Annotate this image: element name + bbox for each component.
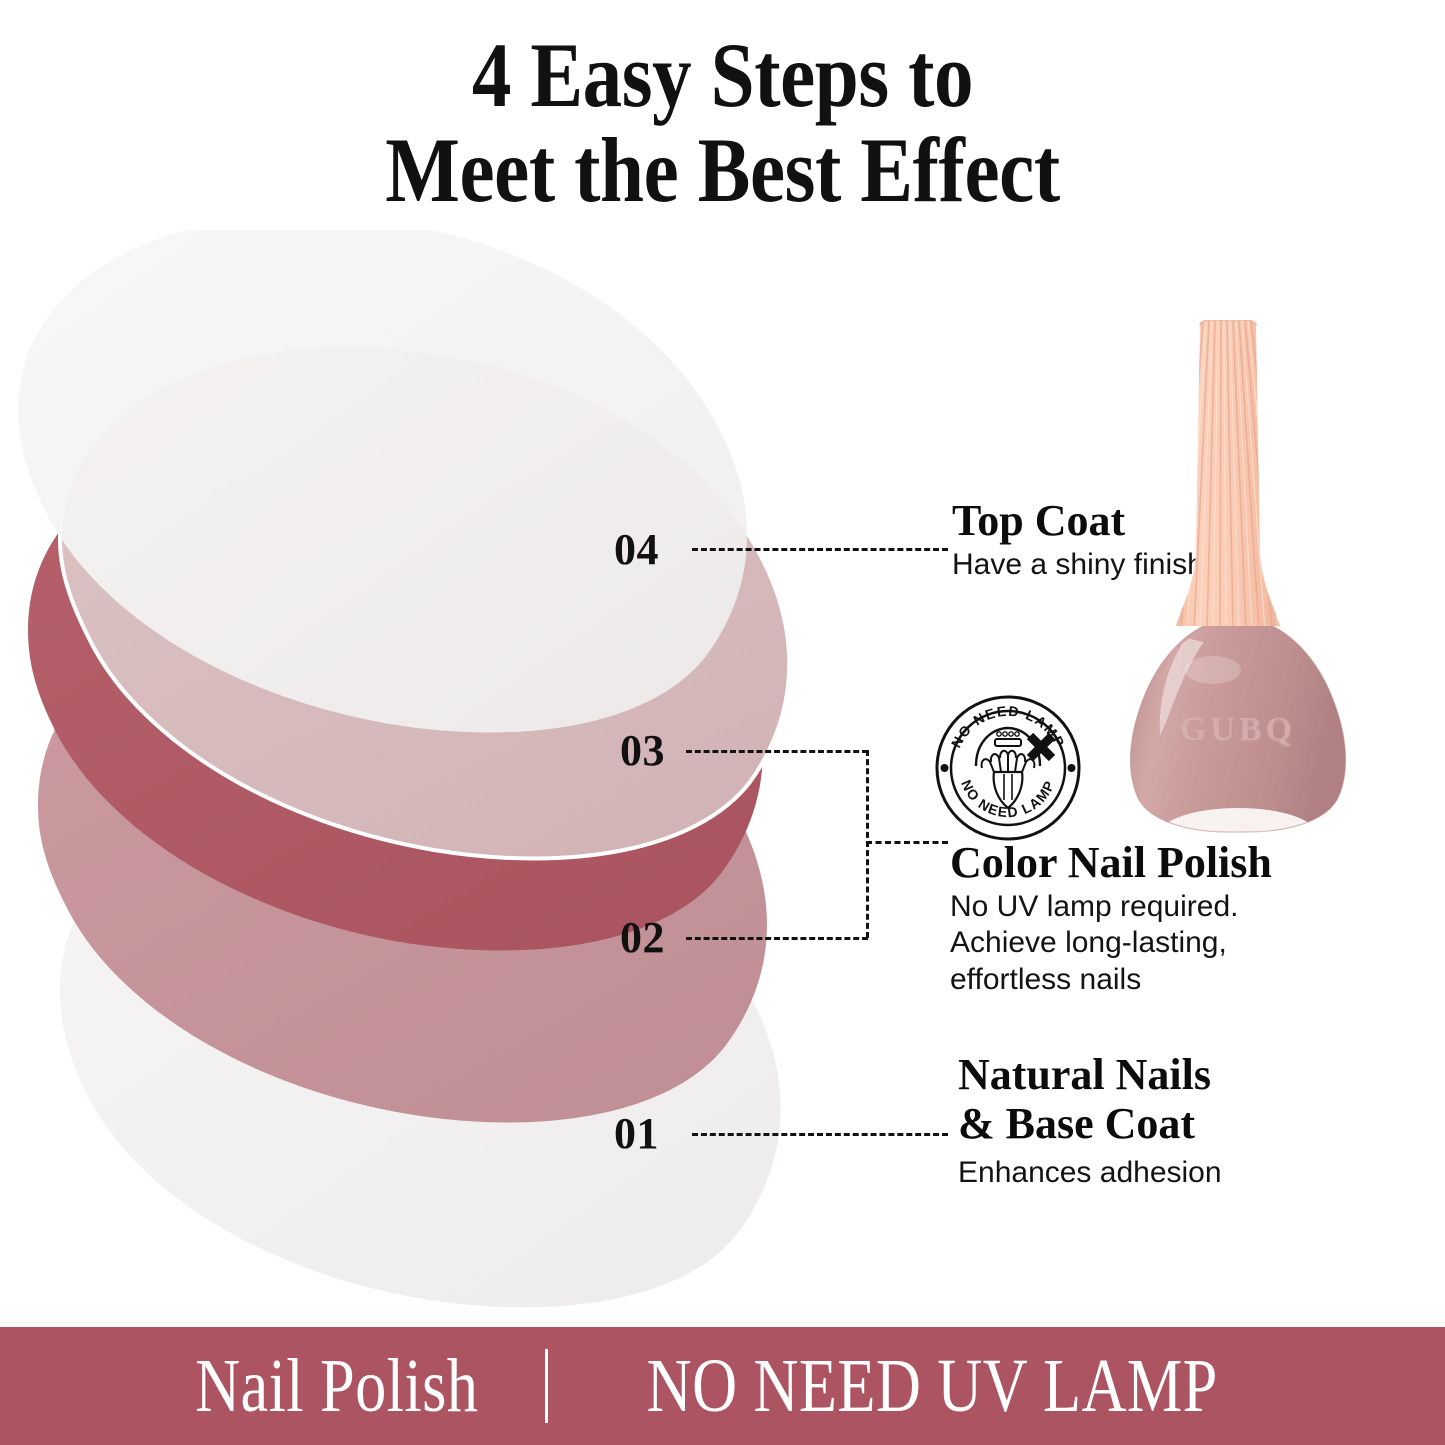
- infographic-page: 4 Easy Steps to Meet the Best Effect: [0, 0, 1445, 1445]
- bottom-banner: Nail Polish NO NEED UV LAMP: [0, 1327, 1445, 1445]
- nail-layer-stack: [0, 230, 860, 1310]
- connector-line-04: [692, 548, 948, 551]
- step-number-02: 02: [620, 912, 665, 963]
- callout-base-coat-heading-line-1: Natural Nails: [958, 1050, 1222, 1099]
- step-number-01: 01: [614, 1108, 659, 1159]
- title-line-1: 4 Easy Steps to: [472, 24, 973, 126]
- callout-color-polish: Color Nail Polish No UV lamp required. A…: [950, 840, 1272, 998]
- callout-color-polish-line-1: No UV lamp required.: [950, 889, 1272, 926]
- no-need-lamp-badge: NO NEED LAMP NO NEED LAMP: [932, 692, 1084, 844]
- title-line-2: Meet the Best Effect: [101, 123, 1344, 218]
- callout-base-coat-heading-line-2: & Base Coat: [958, 1099, 1222, 1148]
- connector-line-01: [692, 1133, 948, 1136]
- bottle-glass-body: GUBQ GUBQ: [1130, 620, 1345, 840]
- callout-base-coat-description: Enhances adhesion: [958, 1155, 1222, 1192]
- page-title: 4 Easy Steps to Meet the Best Effect: [101, 28, 1344, 218]
- step-number-04: 04: [614, 524, 659, 575]
- banner-divider: [545, 1349, 548, 1423]
- callout-color-polish-heading: Color Nail Polish: [950, 840, 1272, 887]
- banner-left-text: Nail Polish: [195, 1348, 478, 1424]
- callout-color-polish-line-3: effortless nails: [950, 962, 1272, 999]
- step-number-03: 03: [620, 725, 665, 776]
- connector-line-02: [686, 937, 868, 940]
- callout-base-coat: Natural Nails & Base Coat Enhances adhes…: [958, 1050, 1222, 1191]
- svg-text:GUBQ: GUBQ: [1180, 711, 1296, 748]
- bottle-cap: [1176, 320, 1285, 630]
- nail-polish-bottle: GUBQ GUBQ: [1108, 320, 1408, 840]
- connector-bracket-vertical: [866, 750, 869, 938]
- callout-base-coat-heading: Natural Nails & Base Coat: [958, 1050, 1222, 1149]
- callout-color-polish-description: No UV lamp required. Achieve long-lastin…: [950, 889, 1272, 999]
- connector-line-03: [686, 750, 868, 753]
- banner-right-text: NO NEED UV LAMP: [647, 1348, 1218, 1424]
- callout-color-polish-line-2: Achieve long-lasting,: [950, 925, 1272, 962]
